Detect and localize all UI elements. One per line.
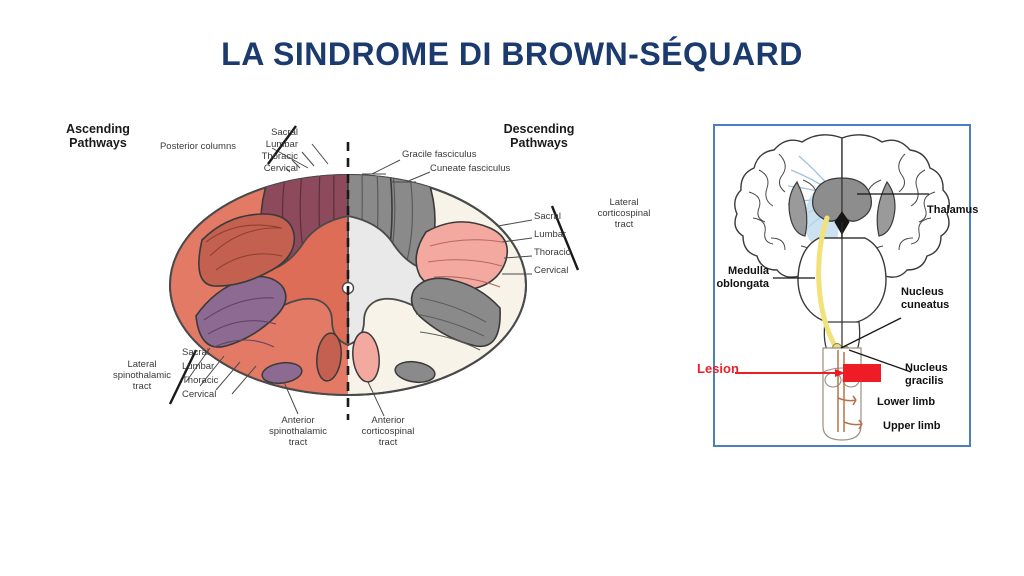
label-right-thoracic: Thoracic (534, 248, 570, 259)
label-top-thoracic: Thoracic (204, 152, 298, 163)
label-medulla-oblongata: Medulla oblongata (667, 265, 769, 291)
label-right-lumbar: Lumbar (534, 230, 566, 241)
spinal-cord-cross-section-figure: Ascending Pathways Descending Pathways P… (100, 120, 660, 460)
label-top-cervical: Cervical (198, 164, 298, 175)
page-title: LA SINDROME DI BROWN-SÉQUARD (0, 36, 1024, 73)
label-nucleus-cuneatus: Nucleus cuneatus (901, 286, 949, 312)
label-lower-limb: Lower limb (877, 396, 935, 409)
spinal-cord-cross-section-svg (100, 120, 660, 460)
label-top-sacral: Sacral (218, 128, 298, 139)
label-thalamus: Thalamus (927, 204, 978, 217)
label-nucleus-gracilis: Nucleus gracilis (905, 362, 948, 388)
spinal-cord-column (823, 348, 861, 440)
label-gracile-fasciculus: Gracile fasciculus (402, 150, 476, 161)
label-right-sacral: Sacral (534, 212, 561, 223)
label-lateral-corticospinal-tract: Lateral corticospinal tract (578, 198, 670, 231)
brain-panel: Thalamus Medulla oblongata Nucleus cunea… (713, 124, 971, 447)
descending-pathways-heading: Descending Pathways (474, 122, 604, 151)
label-cuneate-fasciculus: Cuneate fasciculus (430, 164, 510, 175)
label-anterior-corticospinal-tract: Anterior corticospinal tract (342, 416, 434, 449)
label-upper-limb: Upper limb (883, 420, 940, 433)
label-bottom-sacral: Sacral (182, 348, 209, 359)
slide-root: LA SINDROME DI BROWN-SÉQUARD (0, 0, 1024, 576)
label-top-lumbar: Lumbar (212, 140, 298, 151)
label-lesion: Lesion (697, 361, 739, 376)
label-lateral-spinothalamic-tract: Lateral spinothalamic tract (96, 360, 188, 393)
label-anterior-spinothalamic-tract: Anterior spinothalamic tract (252, 416, 344, 449)
label-right-cervical: Cervical (534, 266, 568, 277)
lesion-marker (843, 364, 881, 382)
